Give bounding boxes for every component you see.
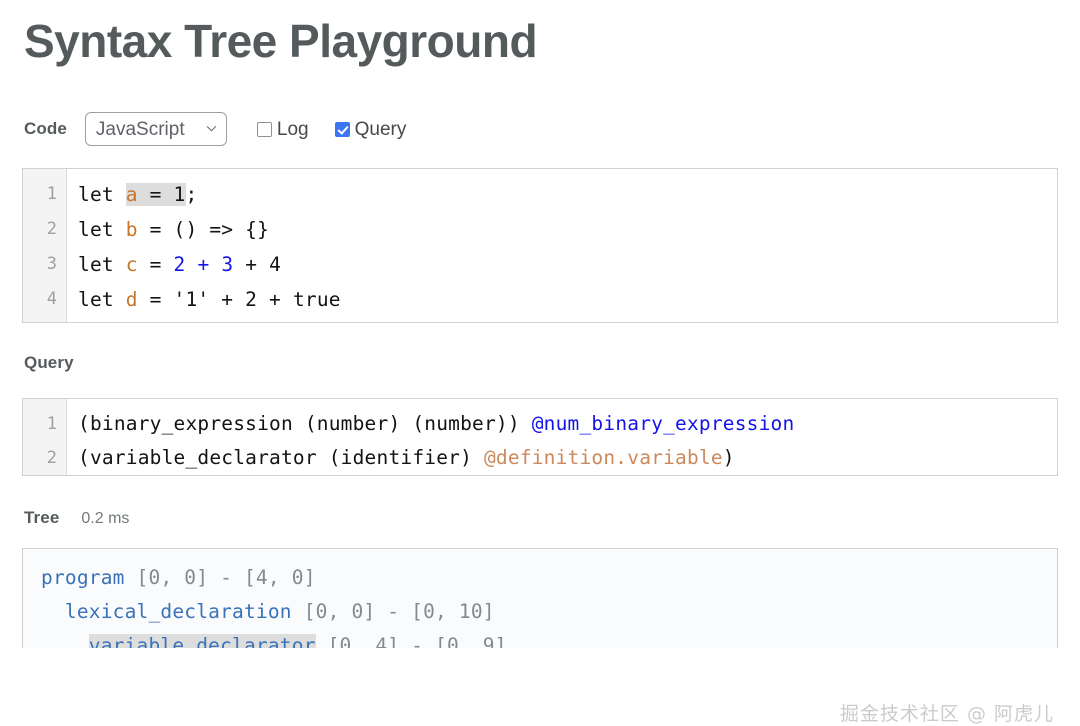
query-editor-content[interactable]: (binary_expression (number) (number)) @n…: [67, 399, 1057, 475]
log-checkbox[interactable]: Log: [257, 120, 309, 139]
query-section-head: Query: [22, 353, 1058, 373]
tree-parse-timing: 0.2 ms: [81, 510, 129, 528]
code-captured-number: 3: [221, 253, 233, 276]
playground-page: Syntax Tree Playground Code JavaScript L…: [0, 14, 1080, 726]
tree-node-range: [0, 0] - [0, 10]: [292, 600, 495, 623]
code-editor[interactable]: 1 2 3 4 let a = 1; let b = () => {} let …: [22, 168, 1058, 323]
tree-row[interactable]: program [0, 0] - [4, 0]: [41, 561, 1057, 595]
code-line: let d = '1' + 2 + true: [78, 282, 1057, 317]
code-keyword: let: [78, 253, 126, 276]
code-rest: = () => {}: [138, 218, 269, 241]
tree-node-range: [0, 0] - [4, 0]: [125, 566, 316, 589]
line-number: 1: [23, 177, 66, 212]
line-number: 2: [23, 212, 66, 247]
code-editor-gutter: 1 2 3 4: [23, 169, 67, 322]
tree-section-title: Tree: [24, 508, 59, 528]
tree-node-name[interactable]: lexical_declaration: [65, 600, 292, 623]
query-section-title: Query: [24, 353, 74, 373]
line-number: 4: [23, 282, 66, 317]
query-line: (binary_expression (number) (number)) @n…: [78, 407, 1057, 441]
code-identifier: d: [126, 288, 138, 311]
log-checkbox-box[interactable]: [257, 122, 272, 137]
log-checkbox-label: Log: [277, 120, 309, 139]
code-rest: + 4: [233, 253, 281, 276]
code-highlighted-node: a = 1: [126, 183, 186, 206]
query-editor-gutter: 1 2: [23, 399, 67, 475]
page-title: Syntax Tree Playground: [22, 14, 1058, 68]
language-select[interactable]: JavaScript: [85, 112, 227, 146]
query-checkbox-box[interactable]: [335, 122, 350, 137]
code-identifier: b: [126, 218, 138, 241]
code-punctuation: ;: [186, 183, 198, 206]
code-keyword: let: [78, 218, 126, 241]
query-punctuation: ): [723, 446, 735, 469]
tree-section-head: Tree 0.2 ms: [22, 508, 1058, 528]
query-pattern: (variable_declarator (identifier): [78, 446, 484, 469]
code-identifier: c: [126, 253, 138, 276]
code-captured-number: 2: [174, 253, 186, 276]
query-checkbox[interactable]: Query: [335, 120, 407, 139]
query-pattern: (binary_expression (number) (number)): [78, 412, 532, 435]
code-line: let c = 2 + 3 + 4: [78, 247, 1057, 282]
code-keyword: let: [78, 288, 126, 311]
line-number: 3: [23, 247, 66, 282]
query-capture-name: @num_binary_expression: [532, 412, 795, 435]
watermark: 掘金技术社区 @ 阿虎儿: [840, 699, 1054, 726]
tree-indent: [41, 634, 89, 648]
query-capture-name: @definition.variable: [484, 446, 723, 469]
tree-node-name[interactable]: variable_declarator: [89, 634, 316, 648]
query-checkbox-label: Query: [355, 120, 407, 139]
tree-row[interactable]: lexical_declaration [0, 0] - [0, 10]: [41, 595, 1057, 629]
controls-row: Code JavaScript Log Query: [22, 112, 1058, 146]
tree-row[interactable]: variable_declarator [0, 4] - [0, 9]: [41, 629, 1057, 648]
code-keyword: let: [78, 183, 126, 206]
code-captured-operator: +: [186, 253, 222, 276]
tree-node-name[interactable]: program: [41, 566, 125, 589]
query-line: (variable_declarator (identifier) @defin…: [78, 441, 1057, 475]
code-line: let a = 1;: [78, 177, 1057, 212]
code-number: 1: [174, 183, 186, 206]
line-number: 1: [23, 407, 66, 441]
code-line: let b = () => {}: [78, 212, 1057, 247]
line-number: 2: [23, 441, 66, 475]
code-label: Code: [24, 119, 67, 139]
code-identifier: a: [126, 183, 138, 206]
code-rest: = '1' + 2 + true: [138, 288, 341, 311]
code-operator: =: [138, 183, 174, 206]
code-operator: =: [138, 253, 174, 276]
query-editor[interactable]: 1 2 (binary_expression (number) (number)…: [22, 398, 1058, 476]
code-editor-content[interactable]: let a = 1; let b = () => {} let c = 2 + …: [67, 169, 1057, 322]
tree-panel[interactable]: program [0, 0] - [4, 0] lexical_declarat…: [22, 548, 1058, 648]
tree-indent: [41, 600, 65, 623]
language-select-value: JavaScript: [96, 120, 185, 139]
tree-node-range: [0, 4] - [0, 9]: [316, 634, 507, 648]
chevron-down-icon: [206, 123, 217, 134]
